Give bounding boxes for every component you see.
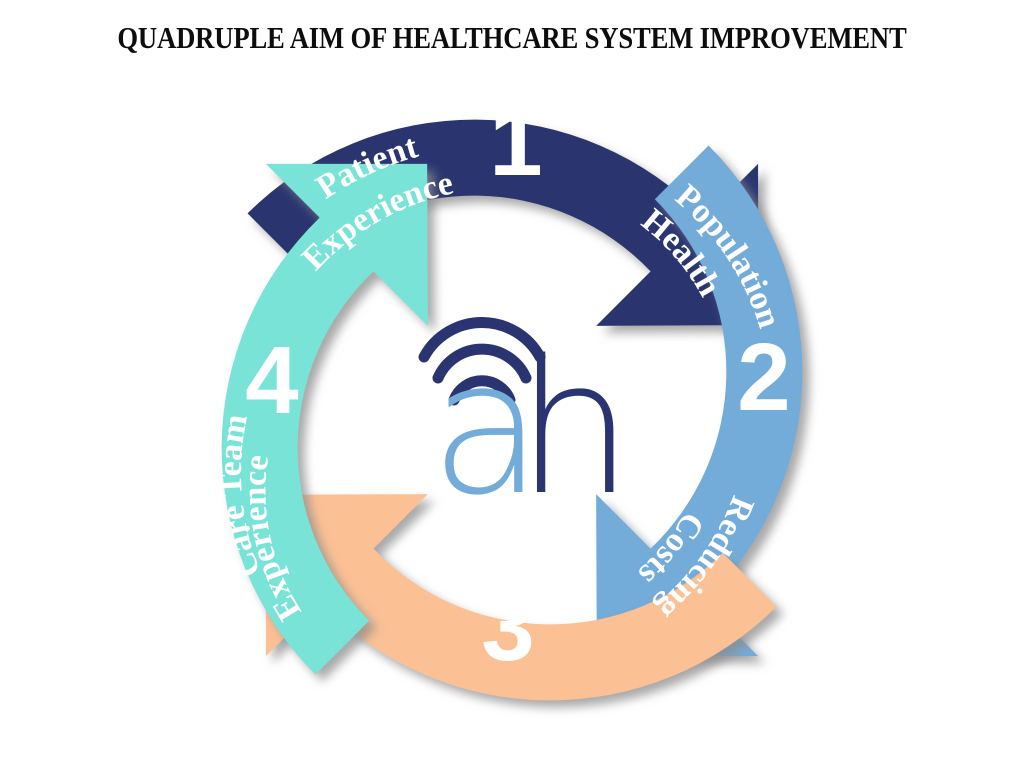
logo-letter-h: h	[516, 320, 633, 536]
quadruple-aim-diagram: 1 2 3 4 Patient Experience Population	[0, 48, 1024, 768]
segment-1-number: 1	[489, 89, 542, 196]
slide-canvas: QUADRUPLE AIM OF HEALTHCARE SYSTEM IMPRO…	[0, 0, 1024, 768]
segment-2-number: 2	[737, 324, 790, 431]
segment-3-number: 3	[481, 574, 534, 681]
ah-logo: a h	[424, 320, 633, 536]
